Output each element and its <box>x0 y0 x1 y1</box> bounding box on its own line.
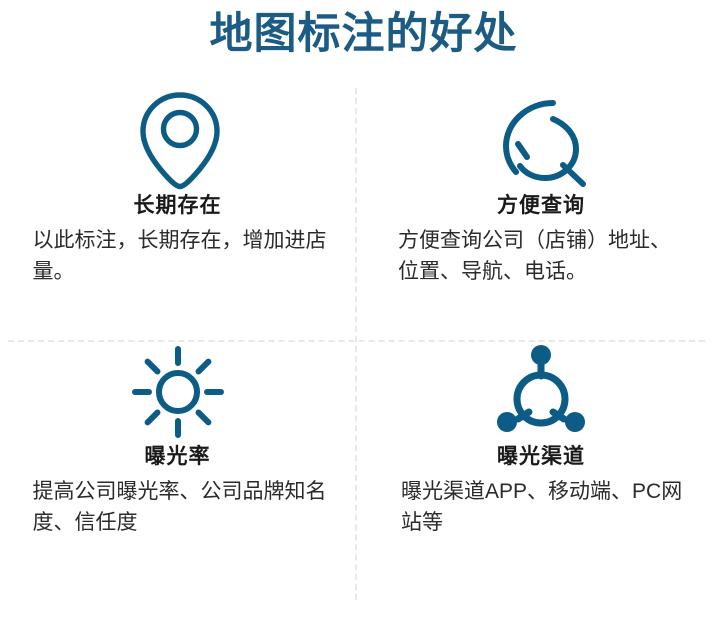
benefit-title: 曝光渠道 <box>497 444 585 470</box>
map-pin-icon <box>129 85 227 193</box>
infographic-page: 地图标注的好处 长期存在 以此标注，长期存在，增加进店量。 <box>0 0 727 625</box>
benefit-card-easy-search: 方便查询 方便查询公司（店铺）地址、位置、导航、电话。 <box>355 85 727 340</box>
sun-icon <box>130 340 226 444</box>
share-network-icon <box>491 340 591 444</box>
benefit-title: 方便查询 <box>497 193 585 219</box>
benefit-title: 长期存在 <box>134 193 222 219</box>
benefit-title: 曝光率 <box>145 444 211 470</box>
benefit-body: 提高公司曝光率、公司品牌知名度、信任度 <box>33 476 327 538</box>
page-title: 地图标注的好处 <box>0 6 727 62</box>
benefit-body: 曝光渠道APP、移动端、PC网站等 <box>401 476 687 538</box>
benefit-card-long-term: 长期存在 以此标注，长期存在，增加进店量。 <box>0 85 355 340</box>
benefit-body: 以此标注，长期存在，增加进店量。 <box>33 225 327 287</box>
benefit-body: 方便查询公司（店铺）地址、位置、导航、电话。 <box>398 225 690 287</box>
benefit-card-exposure-channels: 曝光渠道 曝光渠道APP、移动端、PC网站等 <box>355 340 727 595</box>
benefits-grid: 长期存在 以此标注，长期存在，增加进店量。 方便查询 方便查询公司（店铺）地址、… <box>0 85 727 625</box>
benefit-card-exposure-rate: 曝光率 提高公司曝光率、公司品牌知名度、信任度 <box>0 340 355 595</box>
magnifier-icon <box>491 85 591 193</box>
